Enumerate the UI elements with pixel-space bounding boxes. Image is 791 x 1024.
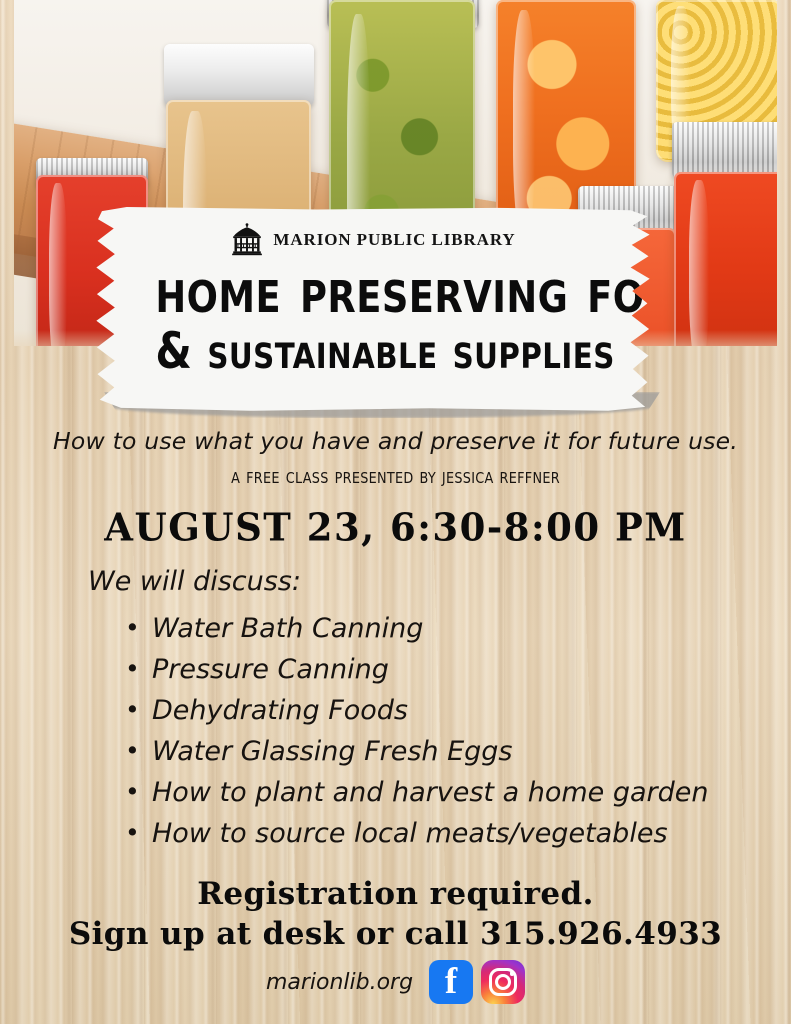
registration-instructions: Sign up at desk or call 315.926.4933 [0, 916, 791, 952]
title-banner: MARION PUBLIC LIBRARY Home Preserving Fo… [93, 207, 653, 412]
facebook-glyph: f [429, 963, 473, 1000]
instagram-dot [510, 971, 515, 976]
gazebo-icon [230, 223, 264, 257]
headline-secondary: & Sustainable Supplies [155, 327, 590, 375]
topics-lead-in: We will discuss: [88, 566, 301, 597]
byline-presenter: A Free Class presented by Jessica Reffne… [20, 464, 771, 488]
list-item: Water Glassing Fresh Eggs [122, 731, 722, 772]
list-item: How to source local meats/vegetables [122, 813, 722, 854]
title-banner-content: MARION PUBLIC LIBRARY Home Preserving Fo… [93, 207, 653, 375]
registration-notice: Registration required. [0, 876, 791, 912]
social-links: f [429, 960, 525, 1004]
event-poster: MARION PUBLIC LIBRARY Home Preserving Fo… [0, 0, 791, 1024]
poster-footer: marionlib.org f [0, 960, 791, 1004]
jar-tomato-sauce-right [674, 172, 777, 346]
list-item: Dehydrating Foods [122, 690, 722, 731]
jar-lid [672, 122, 777, 178]
tagline: How to use what you have and preserve it… [0, 427, 791, 455]
library-name: MARION PUBLIC LIBRARY [273, 230, 515, 250]
list-item: Water Bath Canning [122, 608, 722, 649]
jar-lid [164, 44, 314, 106]
list-item: Pressure Canning [122, 649, 722, 690]
instagram-lens [495, 974, 511, 990]
event-datetime: August 23, 6:30-8:00 PM [0, 504, 791, 550]
library-logo-lockup: MARION PUBLIC LIBRARY [139, 223, 607, 257]
website-url[interactable]: marionlib.org [266, 970, 413, 995]
list-item: How to plant and harvest a home garden [122, 772, 722, 813]
headline-primary: Home Preserving Foods [155, 261, 590, 321]
topics-list: Water Bath Canning Pressure Canning Dehy… [122, 608, 722, 854]
facebook-icon[interactable]: f [429, 960, 473, 1004]
instagram-icon[interactable] [481, 960, 525, 1004]
